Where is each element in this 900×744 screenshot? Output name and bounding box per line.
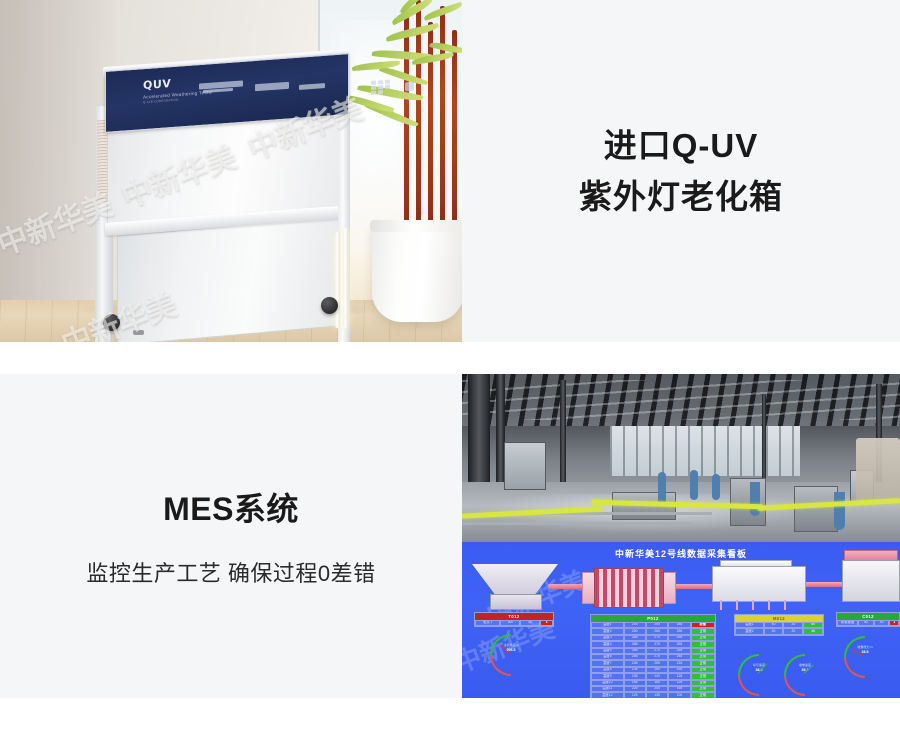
- cell-name: 温度12: [591, 692, 624, 698]
- panel-power-button[interactable]: [405, 82, 414, 92]
- factory-machine: [730, 478, 766, 526]
- equipment-extruder-heaters: [594, 568, 664, 608]
- station3-gauge-2: 收卷速度 39.2: [784, 654, 826, 680]
- equipment-cooling-unit: [712, 566, 806, 602]
- table-row: 温度2402046: [735, 628, 823, 634]
- factory-blue-pipe: [690, 470, 698, 500]
- caster-left: [103, 314, 120, 331]
- cell-act: 46: [803, 628, 823, 634]
- quv-text-panel: 进口Q-UV 紫外灯老化箱: [462, 0, 900, 342]
- cell-set: 40: [764, 628, 784, 634]
- cell: 40: [874, 620, 890, 626]
- mes-text-panel: MES系统 监控生产工艺 确保过程0差错: [0, 374, 462, 698]
- gauge-value: 28.5: [844, 650, 886, 654]
- cell: 收卷速度: [837, 620, 858, 626]
- cell-act: 100: [668, 692, 690, 698]
- cabinet-lower-body: [117, 216, 341, 342]
- promo-page: QUV Accelerated Weathering Tester Q-LAB …: [0, 0, 900, 744]
- factory-conveyor-rail: [462, 522, 692, 525]
- sensor-stub: [768, 600, 770, 610]
- equipment-winder: [842, 560, 900, 602]
- cell: 50: [520, 620, 540, 626]
- station2-table[interactable]: P012 温度1215200185报警温度2260265250正常温度32652…: [590, 614, 716, 698]
- gauge-value: 206.5: [490, 648, 532, 652]
- cell-state: 正常: [691, 692, 715, 698]
- station2-rows: 温度1215200185报警温度2260265250正常温度3265270255…: [591, 622, 715, 698]
- quv-headline-line1: 进口Q-UV: [604, 120, 759, 171]
- station3-rows: 温度1402050温度2402046: [735, 622, 823, 635]
- quv-cabinet: QUV Accelerated Weathering Tester Q-LAB …: [95, 62, 355, 324]
- leveling-foot: [133, 330, 144, 335]
- equipment-hopper-base: [490, 594, 542, 610]
- quv-brand-logo: QUV: [143, 77, 171, 92]
- table-row: 收卷速度 50 40 ●: [837, 620, 899, 626]
- cell: 300: [500, 620, 520, 626]
- cell-hi: 130: [646, 692, 668, 698]
- sensor-stub: [784, 600, 786, 610]
- station3-table[interactable]: M012 温度1402050温度2402046: [734, 614, 824, 636]
- caster-right: [321, 297, 338, 314]
- station4-header: C012: [837, 613, 899, 620]
- section-product-quv: QUV Accelerated Weathering Tester Q-LAB …: [0, 0, 900, 342]
- station4-table[interactable]: C012 收卷速度 50 40 ●: [836, 612, 900, 627]
- panel-keypad[interactable]: [371, 79, 397, 95]
- cell-alarm: ●: [540, 620, 553, 626]
- gauge-arc: [481, 625, 540, 684]
- quv-product-photo: QUV Accelerated Weathering Tester Q-LAB …: [0, 0, 462, 342]
- station1-gauge: 主机电流 A 206.5: [490, 634, 532, 660]
- factory-column: [560, 380, 566, 498]
- factory-blue-pipe: [750, 482, 760, 516]
- plant-pot: [372, 222, 462, 322]
- station3-gauge-1: 牵引速度 38.0: [738, 654, 780, 680]
- section-mes: MES系统 监控生产工艺 确保过程0差错: [0, 374, 900, 698]
- table-row: 电流 1 300 50 ●: [475, 620, 553, 626]
- cell-hi: 20: [783, 628, 803, 634]
- factory-blue-pipe: [712, 474, 720, 500]
- mes-headline: MES系统: [163, 484, 299, 530]
- sensor-stub: [736, 600, 738, 610]
- station4-gauge: 收卷张力 N 28.5: [844, 636, 886, 662]
- mes-subline: 监控生产工艺 确保过程0差错: [86, 556, 375, 588]
- factory-control-panel: [504, 442, 546, 490]
- factory-roof-purlins: [462, 380, 900, 420]
- factory-blue-pipe: [834, 492, 845, 530]
- gauge-label: 主机电流 A: [490, 643, 532, 647]
- cell-alarm: ●: [889, 620, 899, 626]
- gauge-label: 收卷速度: [784, 663, 826, 667]
- factory-column: [762, 394, 766, 490]
- sensor-stub: [720, 600, 722, 610]
- factory-material-bags: [856, 438, 900, 504]
- table-row: 温度12125130100正常: [591, 692, 715, 698]
- station3-header: M012: [735, 615, 823, 622]
- gauge-label: 牵引速度: [738, 663, 780, 667]
- plant-pot-rim: [370, 220, 462, 232]
- dashboard-title: 中新华美12号线数据采集看板: [462, 547, 900, 560]
- quv-headline-line2: 紫外灯老化箱: [579, 171, 783, 222]
- factory-machine: [794, 486, 838, 532]
- factory-window-frame: [610, 426, 800, 476]
- mes-media-panel: 中新华美12号线数据采集看板 中新华美 中新华美: [462, 374, 900, 698]
- station1-header: T012: [475, 613, 553, 620]
- gauge-label: 收卷张力 N: [844, 645, 886, 649]
- cell-name: 温度2: [735, 628, 764, 634]
- sensor-stub: [752, 600, 754, 610]
- cell: 电流 1: [475, 620, 500, 626]
- cell-set: 125: [624, 692, 646, 698]
- station1-table[interactable]: T012 电流 1 300 50 ●: [474, 612, 554, 627]
- station2-header: P012: [591, 615, 715, 622]
- mes-dashboard-screen: 中新华美12号线数据采集看板 中新华美 中新华美: [462, 542, 900, 698]
- factory-photo: [462, 374, 900, 542]
- gauge-arc: [835, 627, 894, 686]
- cell: 50: [858, 620, 874, 626]
